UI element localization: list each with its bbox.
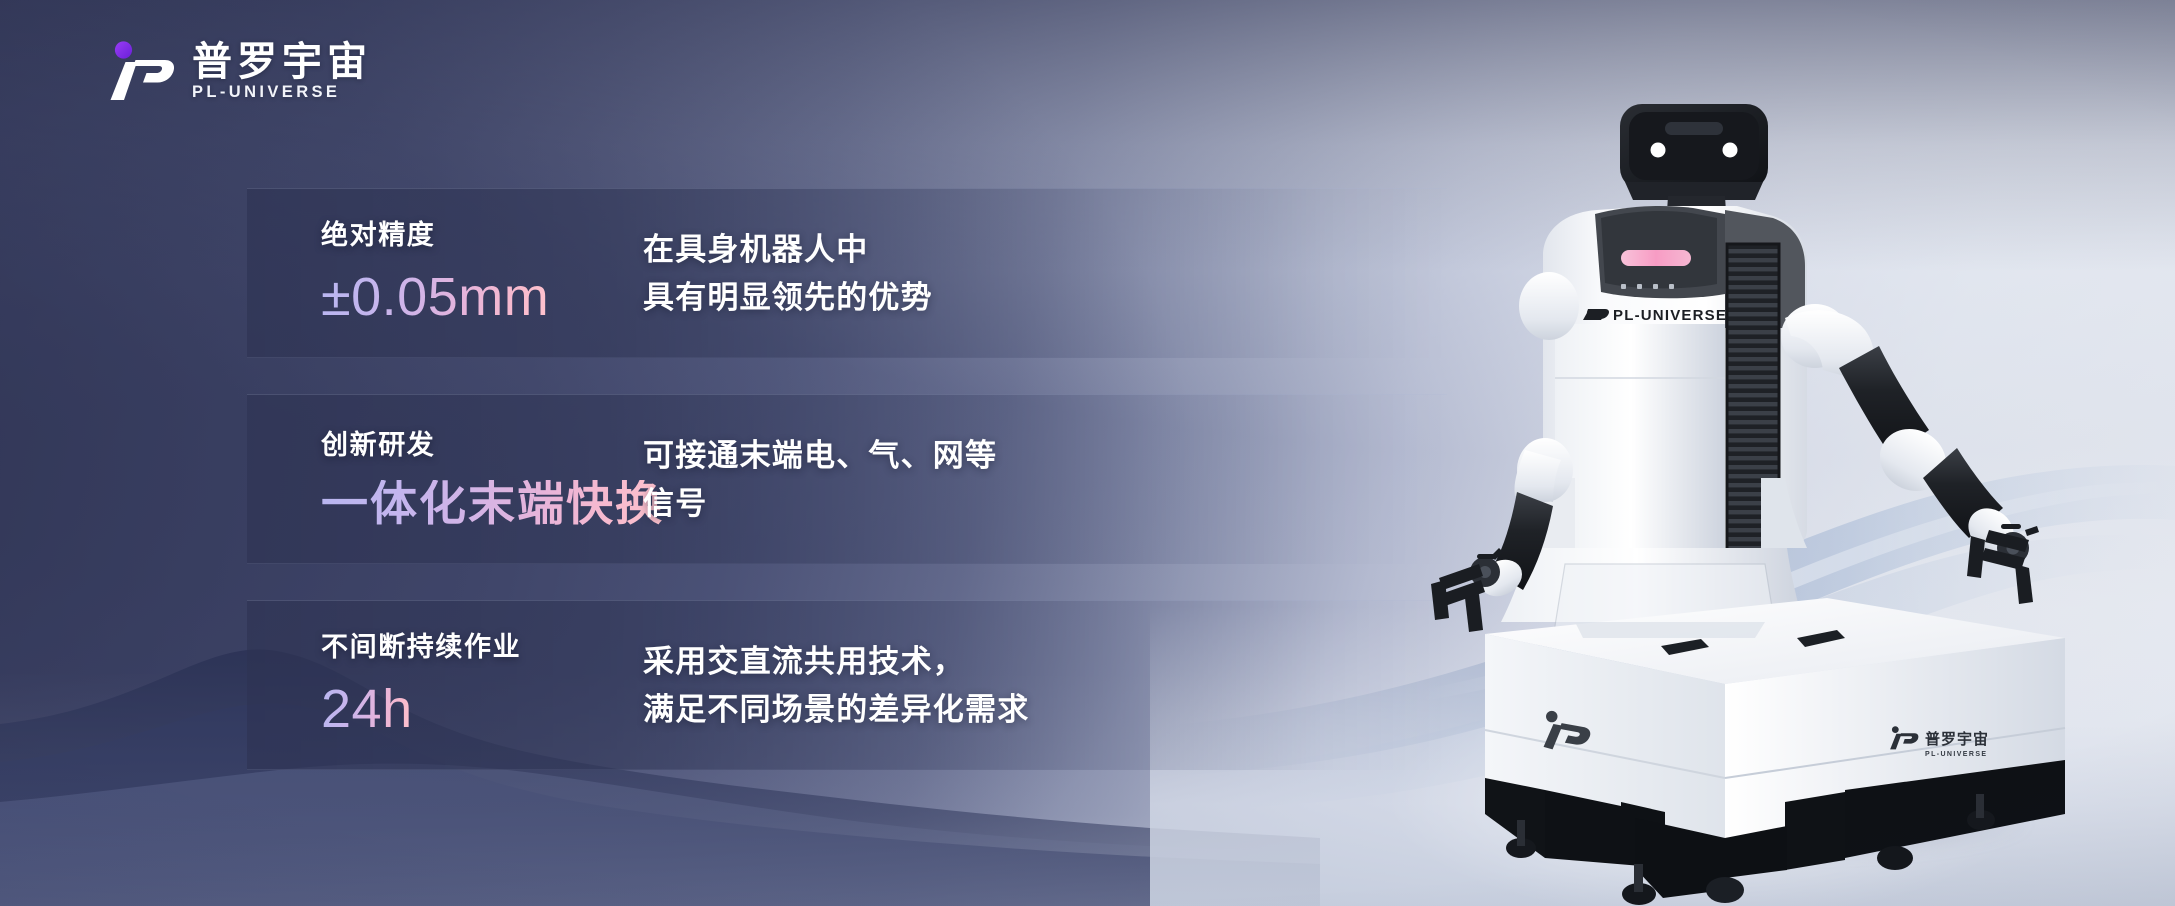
slide-root: 普罗宇宙 PL-UNIVERSE 绝对精度 ±0.05mm 在具身机器人中 具有… bbox=[0, 0, 2175, 906]
vignette-overlay bbox=[0, 0, 2175, 906]
